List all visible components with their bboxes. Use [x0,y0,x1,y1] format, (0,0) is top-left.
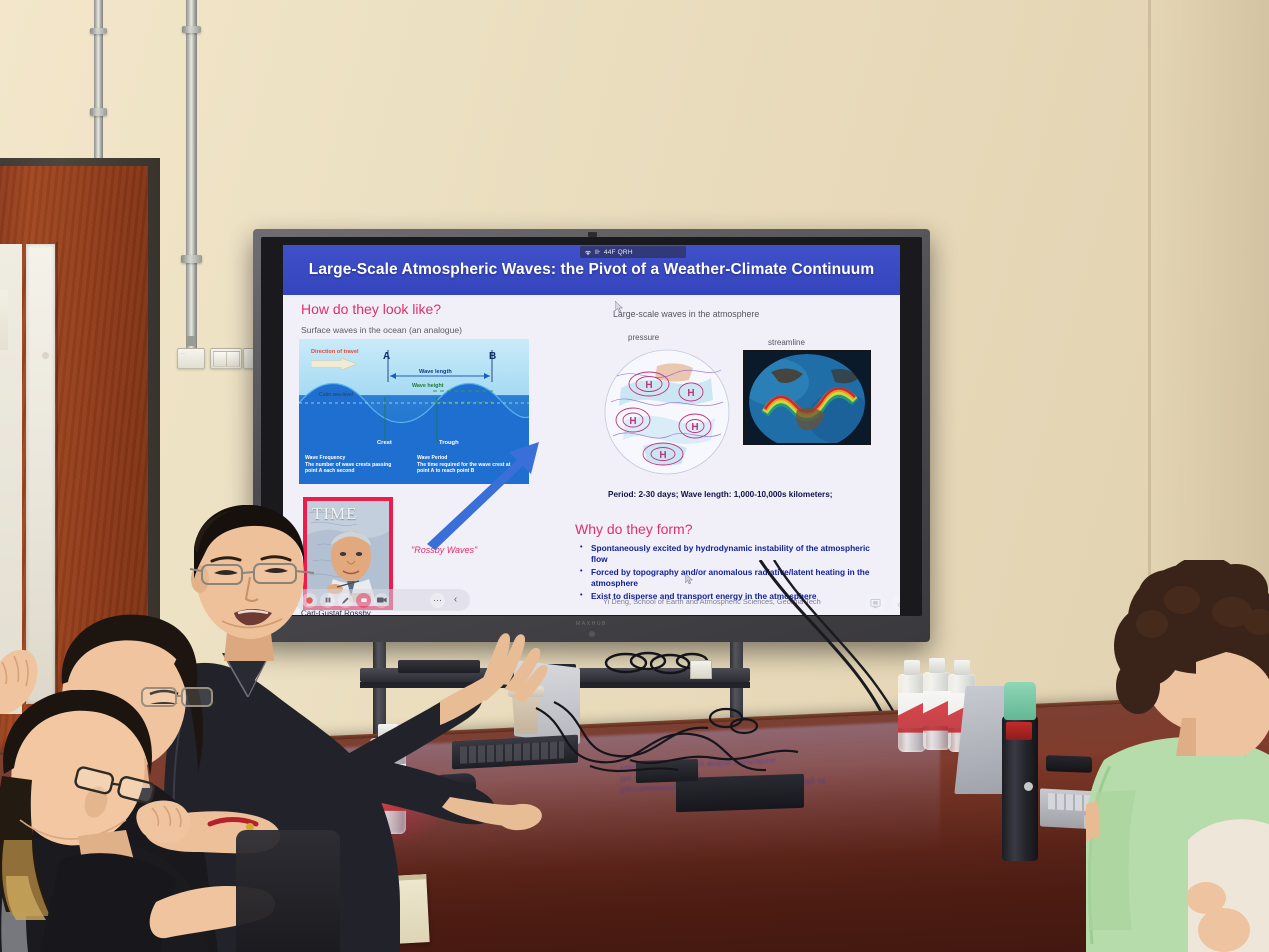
attendee-figure [1188,780,1269,952]
slide-subtitle-left: Surface waves in the ocean (an analogue) [301,325,462,335]
cursor-pointer-icon [685,573,694,585]
wall-pipe-left [94,0,103,172]
bottle-cap [954,660,970,675]
calm-sea-level-label: Calm sea level [319,392,353,398]
thermostat-plate[interactable]: ····· [177,348,205,369]
wall-pipe-right [186,0,197,350]
pipe-bracket [90,28,107,34]
conference-room-scene: ····· Large-Scale Atmospheric Waves: the… [0,0,1269,952]
polar-pressure-map: HH HHH [603,348,731,476]
slide-heading-left: How do they look like? [301,301,441,317]
water-bottle[interactable] [898,660,926,752]
pipe-end [187,336,196,346]
period-wavelength-text: Period: 2-30 days; Wave length: 1,000-10… [608,490,833,499]
hand-figure [0,640,48,720]
wifi-status-overlay: ⊪ 44F QRH [580,246,686,258]
light-switch-rocker[interactable] [213,351,227,367]
svg-text:H: H [629,416,636,427]
wave-height-label: Wave height [412,383,444,389]
pipe-bracket [90,108,107,116]
hand-figure [1196,652,1269,762]
slide-heading-right: Why do they form? [575,521,693,537]
door-notice-sign [0,290,8,350]
wave-length-label: Wave length [419,369,452,375]
wave-frequency-block: Wave Frequency The number of wave crests… [305,455,405,475]
direction-arrow-icon [311,358,357,370]
crest-label: Crest [377,440,392,446]
display-ir-sensor [588,629,596,637]
wave-frequency-text: The number of wave crests passing point … [305,462,405,475]
insulated-bottle[interactable] [1002,716,1038,861]
svg-text:H: H [687,388,694,399]
water-bottle[interactable] [923,658,951,750]
wifi-signal-bars: ⊪ [595,248,601,256]
door-closer-screw [42,352,49,359]
attendee-far-right [1188,780,1269,952]
attendee-right-hand [1196,652,1269,762]
attendee-left-hand [0,640,48,720]
bottle-cap [1004,682,1036,720]
bottle-cap [929,658,945,673]
eyeglasses-icon [188,557,318,587]
table-cable-tangle [530,700,850,810]
light-switch-plate[interactable] [210,348,242,369]
pipe-bracket [181,255,202,263]
slide-subtitle-right: Large-scale waves in the atmosphere [613,309,759,319]
plate-label: ····· [180,351,185,356]
wave-frequency-title: Wave Frequency [305,455,405,462]
cursor-pointer-icon [615,301,624,313]
svg-text:H: H [691,422,698,433]
streamline-globe-image [743,350,871,445]
display-brand-logo: MAXHUB [576,621,607,627]
bottle-cap [904,660,920,675]
svg-text:H: H [659,450,666,461]
power-adapter-brick [690,660,712,679]
bottle-accent [1006,722,1032,740]
chair-back [236,830,340,952]
wifi-network-name: 44F QRH [604,249,633,256]
slide-title-text: Large-Scale Atmospheric Waves: the Pivot… [291,260,893,280]
streamline-panel-label: streamline [768,338,805,347]
wavelength-measure-lines [387,350,493,382]
jetstream-visualization [745,352,869,443]
pipe-bracket [182,26,201,33]
direction-of-travel-label: Direction of travel [311,349,359,355]
pressure-panel-label: pressure [628,333,659,342]
light-switch-rocker[interactable] [226,351,240,367]
crest-trough-leaders [375,397,445,443]
wifi-icon [584,249,592,256]
streamline-render [745,352,869,443]
svg-text:H: H [645,380,652,391]
brand-logo-icon [1024,782,1033,791]
